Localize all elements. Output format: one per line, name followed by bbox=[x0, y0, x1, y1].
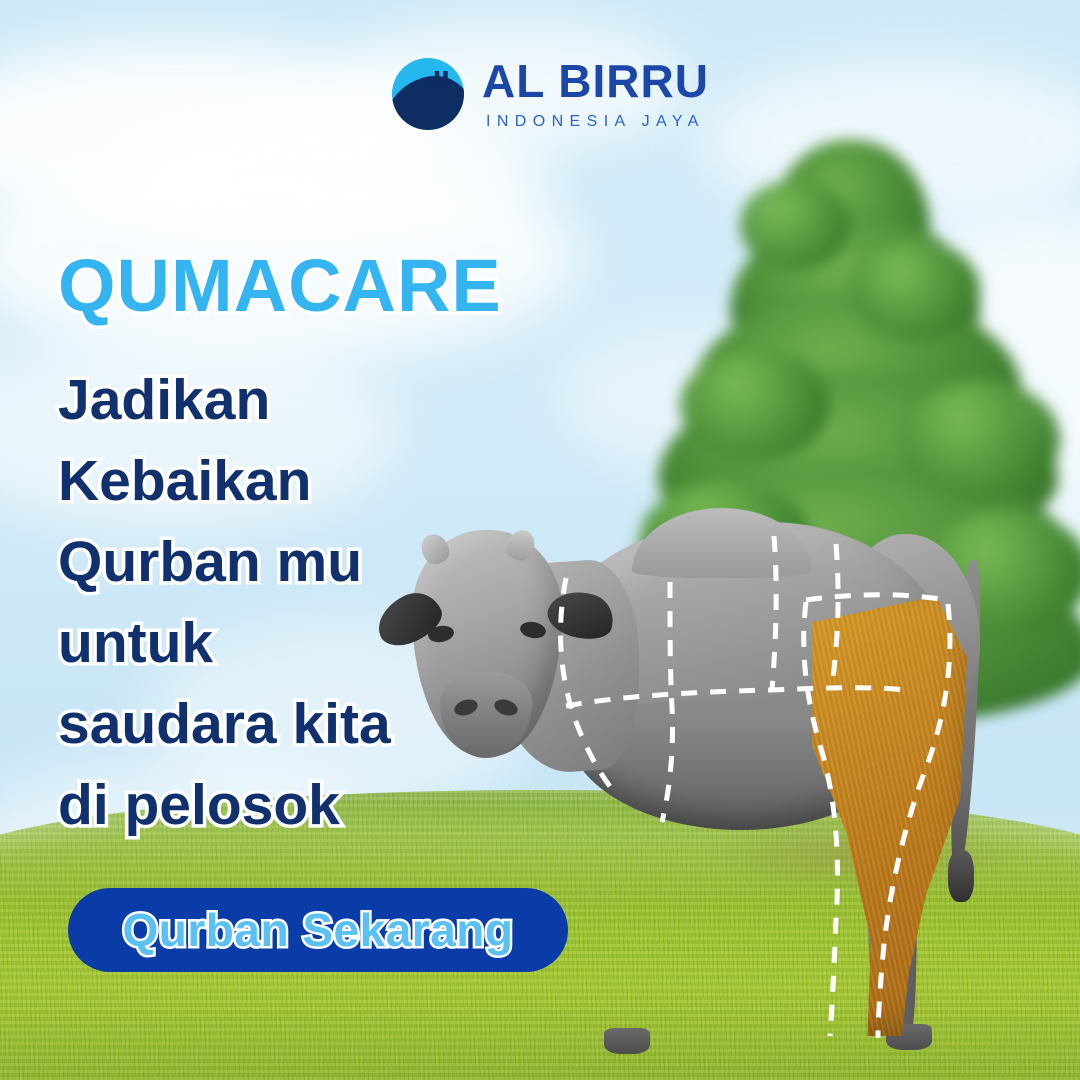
qurban-campaign-poster: البر AL BIRRU INDONESIA JAYA QUMACARE Ja… bbox=[0, 0, 1080, 1080]
albirru-circle-calligraphy-icon: البر bbox=[392, 58, 464, 130]
brand-name: AL BIRRU bbox=[482, 58, 709, 104]
brand-logo[interactable]: البر AL BIRRU INDONESIA JAYA bbox=[392, 58, 709, 130]
logo-arabic-calligraphy: البر bbox=[392, 69, 464, 94]
headline-line: Kebaikan bbox=[58, 441, 488, 522]
cow-front-leg-near bbox=[604, 780, 654, 1039]
tree-foliage-blob bbox=[740, 180, 850, 270]
headline-line: Qurban mu bbox=[58, 522, 488, 603]
tree-foliage-blob bbox=[680, 350, 830, 460]
headline-line: di pelosok bbox=[58, 765, 488, 846]
tree-foliage-blob bbox=[900, 380, 1060, 500]
headline-line: untuk bbox=[58, 603, 488, 684]
cow-hoof bbox=[604, 1028, 650, 1054]
brand-tagline: INDONESIA JAYA bbox=[486, 114, 709, 130]
headline-line: Jadikan bbox=[58, 360, 488, 441]
cow-tail-tuft bbox=[948, 850, 974, 902]
tree-foliage-blob bbox=[850, 240, 980, 340]
qurban-sekarang-button-label: Qurban Sekarang bbox=[123, 907, 514, 953]
brand-logo-text: AL BIRRU INDONESIA JAYA bbox=[482, 58, 709, 130]
cow-hump bbox=[632, 508, 812, 578]
program-name: QUMACARE bbox=[58, 243, 502, 328]
headline-line: saudara kita bbox=[58, 684, 488, 765]
headline: Jadikan Kebaikan Qurban mu untuk saudara… bbox=[58, 360, 488, 846]
qurban-sekarang-button[interactable]: Qurban Sekarang bbox=[68, 888, 568, 972]
